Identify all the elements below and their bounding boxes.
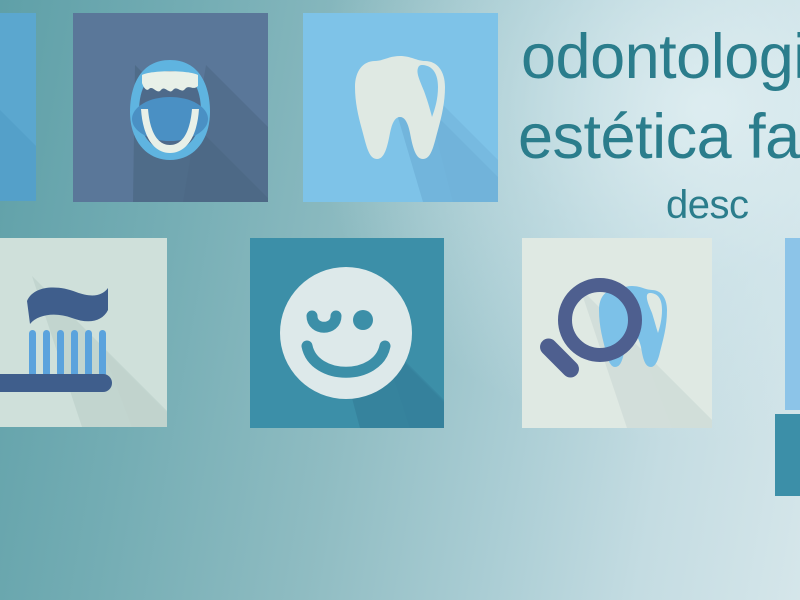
winking-smiley-icon xyxy=(250,238,444,428)
headline-line-1: odontologi xyxy=(521,26,800,89)
blank-tile-icon xyxy=(0,13,36,201)
open-mouth-icon xyxy=(73,13,268,202)
headline-line-2: estética facia xyxy=(518,106,800,169)
tile-tooth-magnifier xyxy=(522,238,712,428)
tile-tooth xyxy=(303,13,498,202)
tile-toothbrush xyxy=(0,238,167,427)
tile-smiley-wink xyxy=(250,238,444,428)
tile-open-mouth xyxy=(73,13,268,202)
headline-line-3: desc xyxy=(666,185,749,225)
magnifier-tooth-icon xyxy=(522,238,712,428)
tile-partial-right-top xyxy=(785,238,800,410)
toothbrush-icon xyxy=(0,238,167,427)
dental-clinic-banner: odontologi estética facia desc xyxy=(0,0,800,600)
tile-partial-right-bottom xyxy=(775,414,800,496)
tile-partial-left xyxy=(0,13,36,201)
tooth-icon xyxy=(303,13,498,202)
